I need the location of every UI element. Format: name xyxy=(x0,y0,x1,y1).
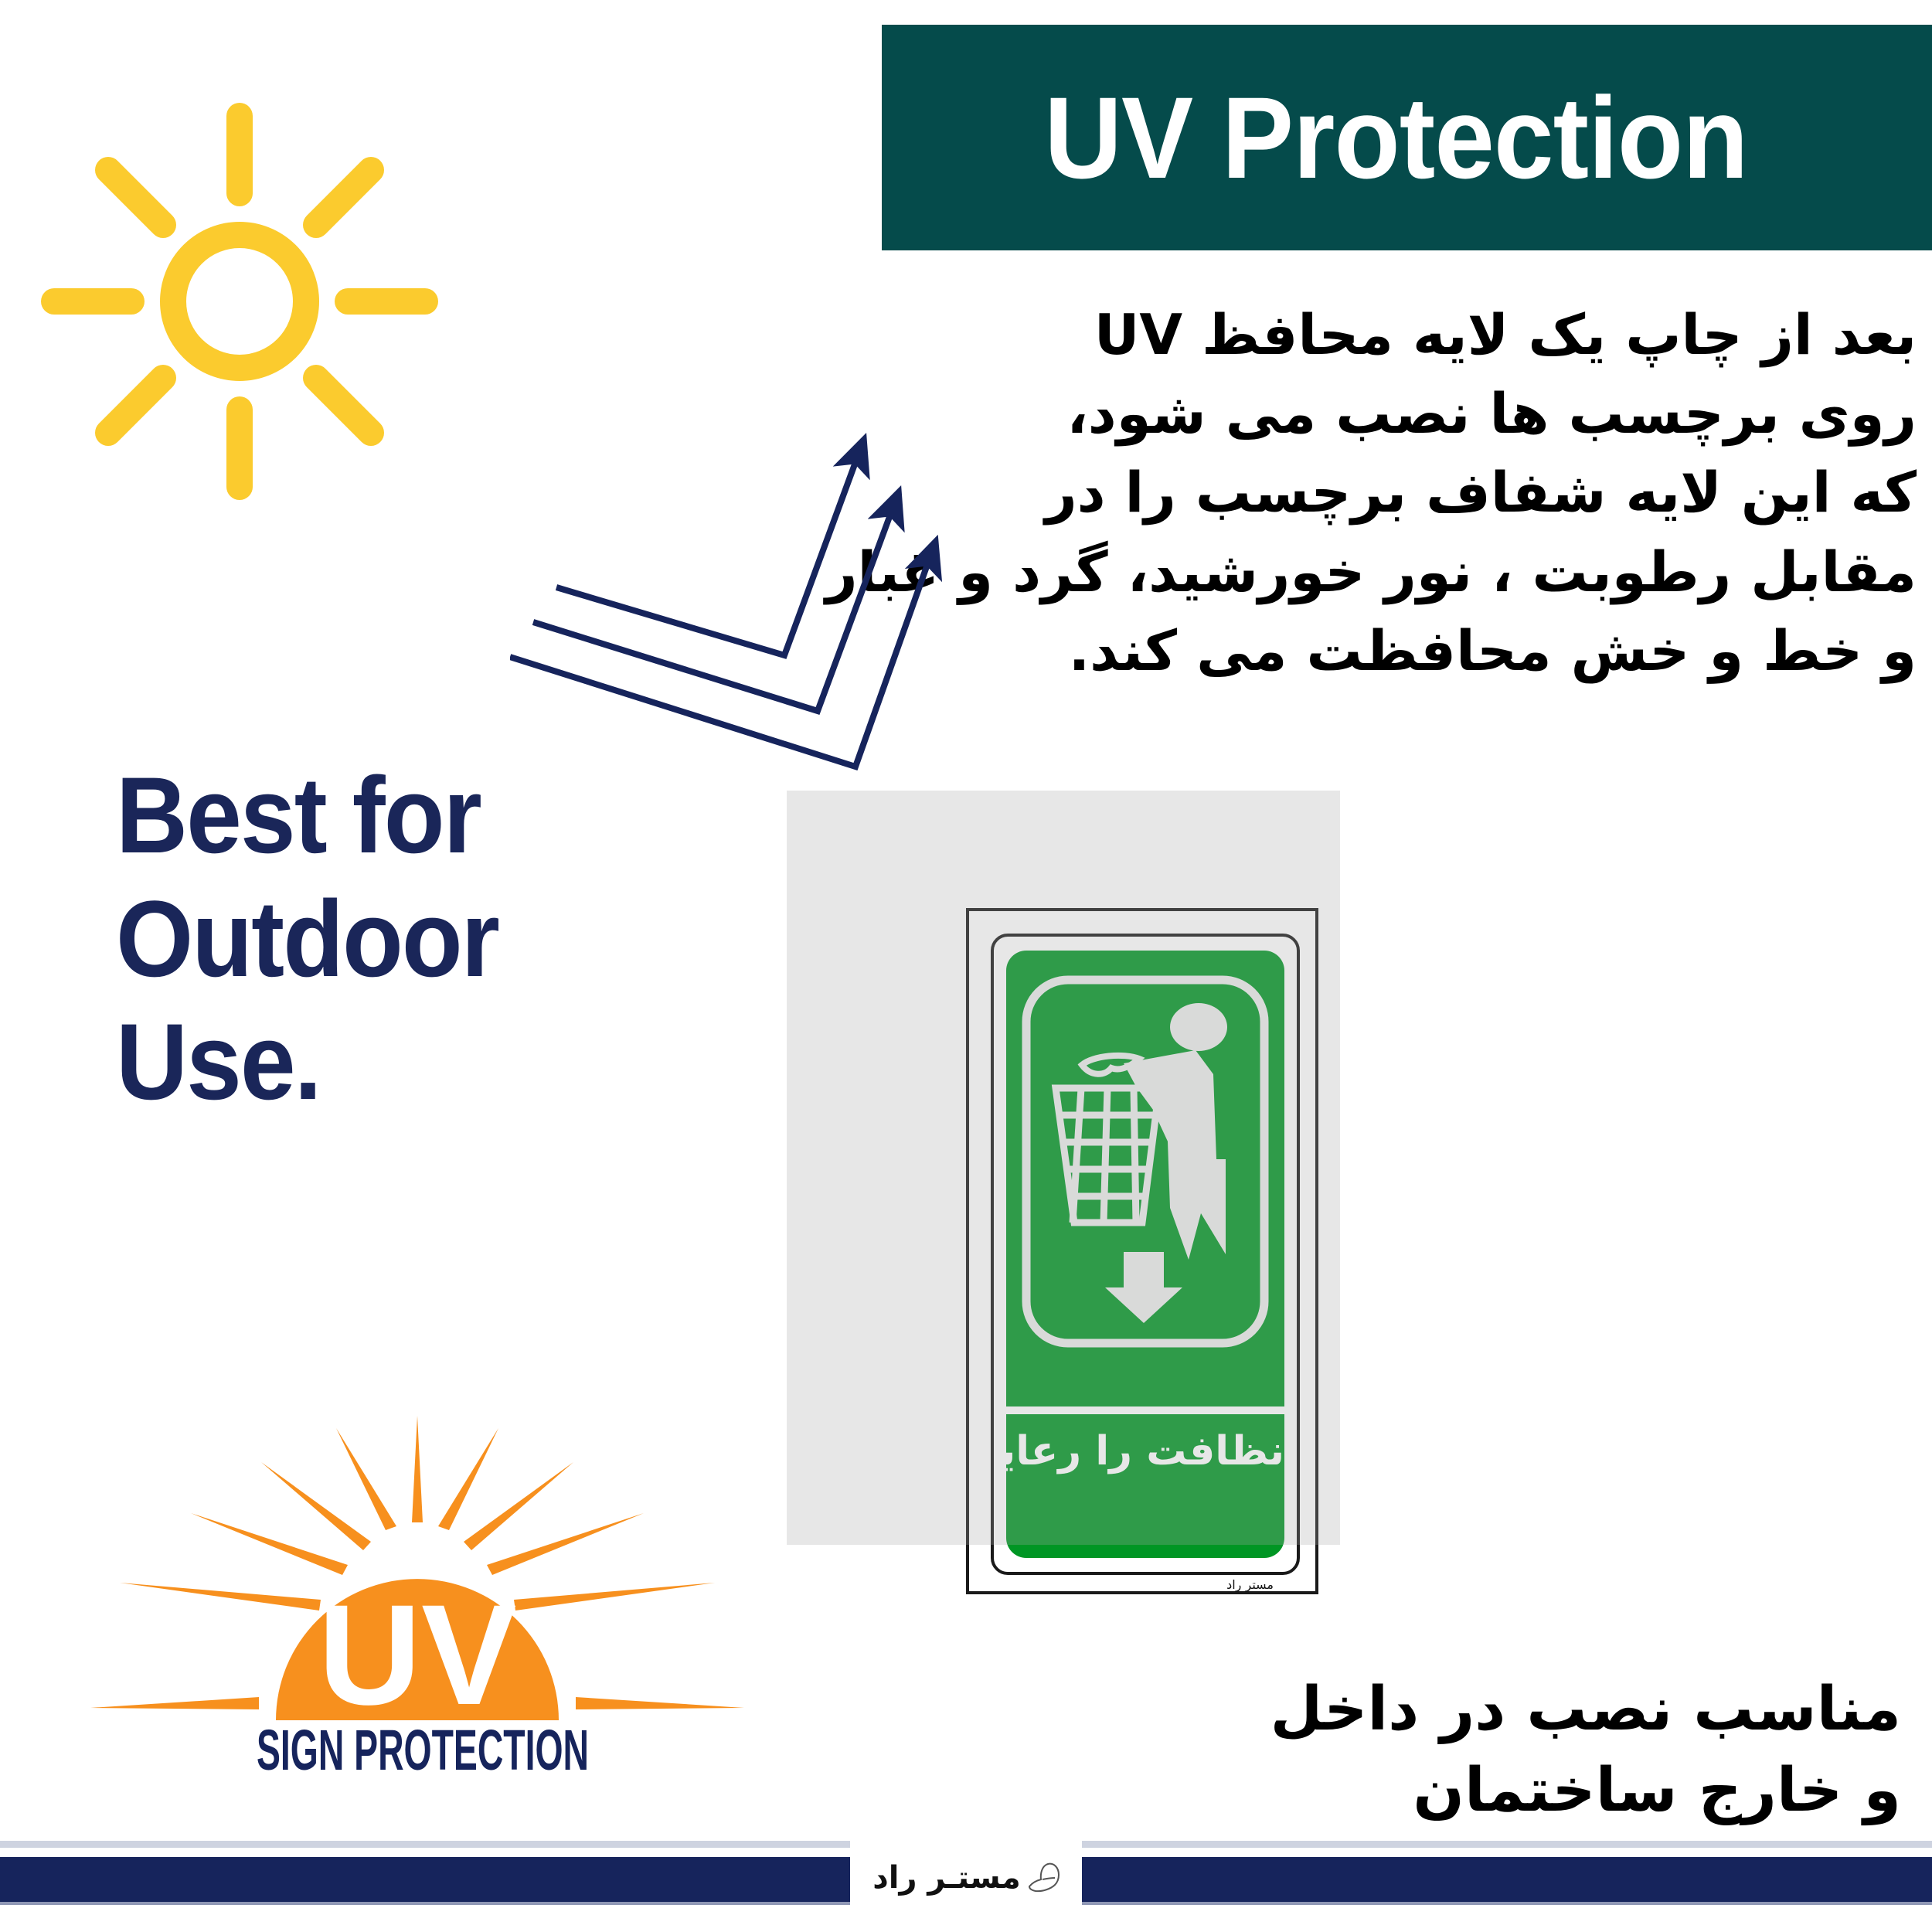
infographic-canvas: UV Protection بعد از چاپ یک لایه محافظ U… xyxy=(0,0,1932,1932)
bottom-note: مناسب نصب در داخل و خارج ساختمان xyxy=(974,1669,1901,1832)
footer-brand-text: مستـر راد xyxy=(872,1860,1021,1896)
logo-ray-8 xyxy=(514,1583,715,1611)
sun-ray-nw xyxy=(108,170,163,225)
sign-watermark: مستر راد xyxy=(1226,1577,1274,1592)
logo-ray-7 xyxy=(120,1583,321,1611)
sun-ray-ne xyxy=(316,170,371,225)
sun-icon xyxy=(23,70,456,502)
page-title: UV Protection xyxy=(1044,80,1747,196)
person-head xyxy=(1170,1003,1227,1051)
reflect-arrow-1 xyxy=(556,456,858,655)
slogan-line-1: Best for xyxy=(116,753,656,877)
logo-ray-1 xyxy=(336,1428,396,1530)
description-line-1: بعد از چاپ یک لایه محافظ UV xyxy=(951,295,1917,374)
uv-sign-protection-logo: UV SIGN PROTECTION xyxy=(73,1406,761,1785)
sun-icon-svg xyxy=(23,70,456,502)
sun-ray-sw xyxy=(108,378,163,433)
bottom-note-line-1: مناسب نصب در داخل xyxy=(974,1669,1901,1750)
slogan-text: Best for Outdoor Use. xyxy=(116,753,656,1124)
bottom-note-line-2: و خارج ساختمان xyxy=(974,1750,1901,1832)
logo-caption: SIGN PROTECTION xyxy=(257,1718,589,1782)
description-line-3: که این لایه شفاف برچسب را در xyxy=(951,453,1917,532)
keep-clean-litter-bin-icon xyxy=(1006,951,1284,1406)
uv-logo-svg: UV SIGN PROTECTION xyxy=(73,1406,761,1785)
logo-ray-5 xyxy=(191,1513,348,1575)
cowboy-hat-icon xyxy=(1026,1861,1067,1895)
logo-ray-4 xyxy=(464,1462,573,1550)
person-body xyxy=(1124,1050,1226,1260)
logo-ray-10 xyxy=(576,1697,744,1709)
sign-caption-panel: نظافت را رعایت کنید xyxy=(1006,1414,1284,1558)
sign-sample-assembly: نظافت را رعایت کنید مستر راد xyxy=(781,784,1538,1604)
sign-caption-text: نظافت را رعایت کنید xyxy=(1006,1431,1284,1471)
sun-disc xyxy=(173,235,306,368)
logo-ray-2 xyxy=(438,1428,498,1530)
logo-ray-6 xyxy=(487,1513,644,1575)
logo-uv-text: UV xyxy=(318,1576,517,1735)
reflect-arrows-svg xyxy=(510,433,989,804)
description-paragraph: بعد از چاپ یک لایه محافظ UV روی برچسب ها… xyxy=(951,295,1917,690)
description-line-2: روی برچسب ها نصب می شود، xyxy=(951,374,1917,453)
description-line-4: مقابل رطوبت ، نور خورشید، گرد و غبار xyxy=(951,532,1917,611)
sun-ray-se xyxy=(316,378,371,433)
footer: مستـر راد xyxy=(0,1836,1932,1932)
down-arrow-icon xyxy=(1105,1252,1182,1323)
logo-ray-0 xyxy=(412,1416,423,1522)
sign-pictogram-panel xyxy=(1006,951,1284,1406)
reflected-uv-rays-icon xyxy=(510,433,989,804)
logo-ray-3 xyxy=(261,1462,371,1550)
logo-ray-9 xyxy=(90,1697,259,1709)
slogan-line-3: Use. xyxy=(116,1000,656,1124)
slogan-line-2: Outdoor xyxy=(116,877,656,1001)
description-line-5: و خط و خش محافظت می کند. xyxy=(951,611,1917,690)
litter-bin xyxy=(1056,1088,1159,1223)
sign-face: نظافت را رعایت کنید مستر راد xyxy=(1006,951,1284,1558)
header-banner: UV Protection xyxy=(882,25,1932,250)
footer-brand-logo: مستـر راد xyxy=(854,1847,1086,1909)
